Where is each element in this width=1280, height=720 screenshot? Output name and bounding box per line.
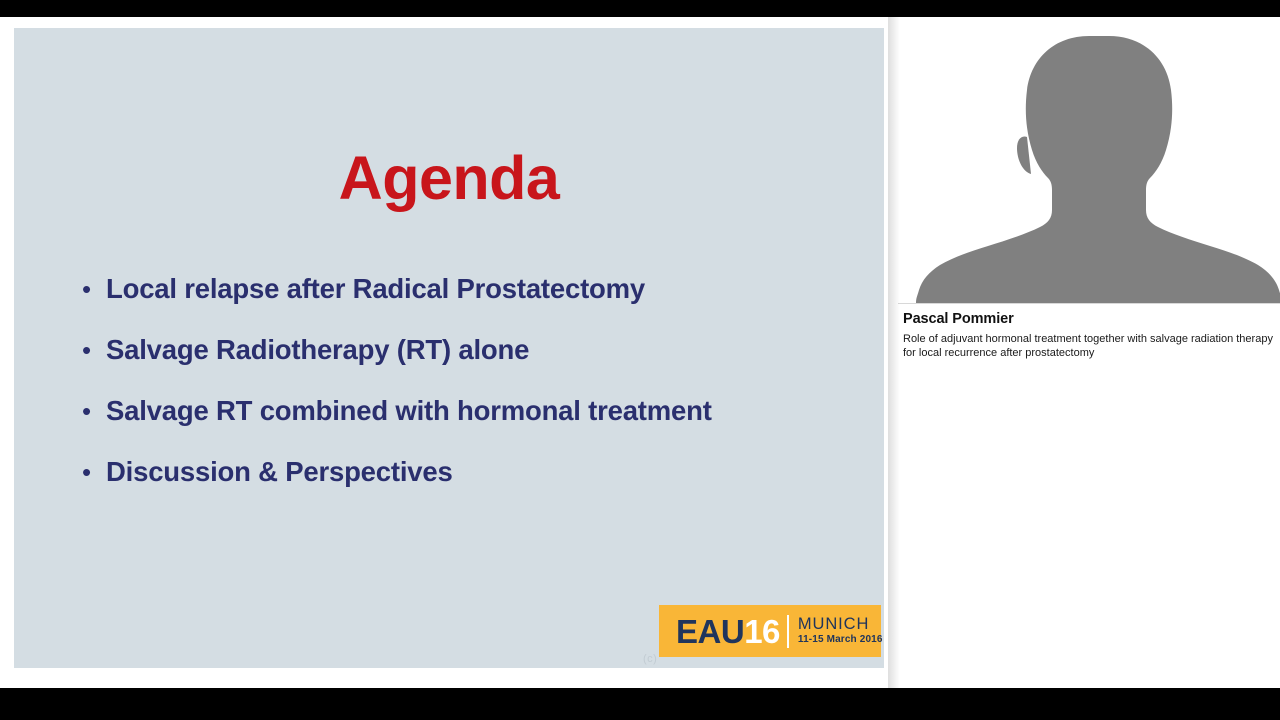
bullet-label: Salvage RT combined with hormonal treatm… xyxy=(106,395,712,427)
bullet-dot-icon: • xyxy=(74,459,106,485)
logo-brand-text: EAU xyxy=(676,613,744,650)
bullet-label: Discussion & Perspectives xyxy=(106,456,453,488)
logo-location-block: MUNICH 11-15 March 2016 xyxy=(798,616,883,646)
logo-divider xyxy=(787,615,789,648)
eau16-congress-logo: EAU16 MUNICH 11-15 March 2016 xyxy=(659,605,881,657)
bullet-dot-icon: • xyxy=(74,398,106,424)
panel-divider xyxy=(898,303,1280,304)
logo-year-text: 16 xyxy=(744,613,780,650)
copyright-watermark: (c) xyxy=(643,653,657,665)
logo-wordmark: EAU16 xyxy=(676,615,780,648)
list-item: • Salvage RT combined with hormonal trea… xyxy=(74,380,864,441)
presentation-slide: Agenda • Local relapse after Radical Pro… xyxy=(14,28,884,668)
bullet-dot-icon: • xyxy=(74,337,106,363)
slide-panel: Agenda • Local relapse after Radical Pro… xyxy=(0,17,898,688)
list-item: • Local relapse after Radical Prostatect… xyxy=(74,258,864,319)
logo-dates-text: 11-15 March 2016 xyxy=(798,635,883,646)
talk-title: Role of adjuvant hormonal treatment toge… xyxy=(903,332,1275,360)
slide-panel-shadow xyxy=(888,17,900,688)
bullet-label: Salvage Radiotherapy (RT) alone xyxy=(106,334,529,366)
letterbox-bar-top xyxy=(0,0,1280,17)
letterbox-bar-bottom xyxy=(0,688,1280,720)
speaker-info: Pascal Pommier Role of adjuvant hormonal… xyxy=(903,310,1280,360)
logo-city-text: MUNICH xyxy=(798,616,883,633)
video-player-screen: Agenda • Local relapse after Radical Pro… xyxy=(0,0,1280,720)
bullet-label: Local relapse after Radical Prostatectom… xyxy=(106,273,645,305)
avatar xyxy=(898,17,1280,303)
speaker-name: Pascal Pommier xyxy=(903,310,1280,329)
bullet-dot-icon: • xyxy=(74,276,106,302)
slide-bullet-list: • Local relapse after Radical Prostatect… xyxy=(74,258,864,502)
slide-title: Agenda xyxy=(14,148,884,209)
list-item: • Discussion & Perspectives xyxy=(74,441,864,502)
list-item: • Salvage Radiotherapy (RT) alone xyxy=(74,319,864,380)
speaker-panel: Pascal Pommier Role of adjuvant hormonal… xyxy=(898,17,1280,688)
